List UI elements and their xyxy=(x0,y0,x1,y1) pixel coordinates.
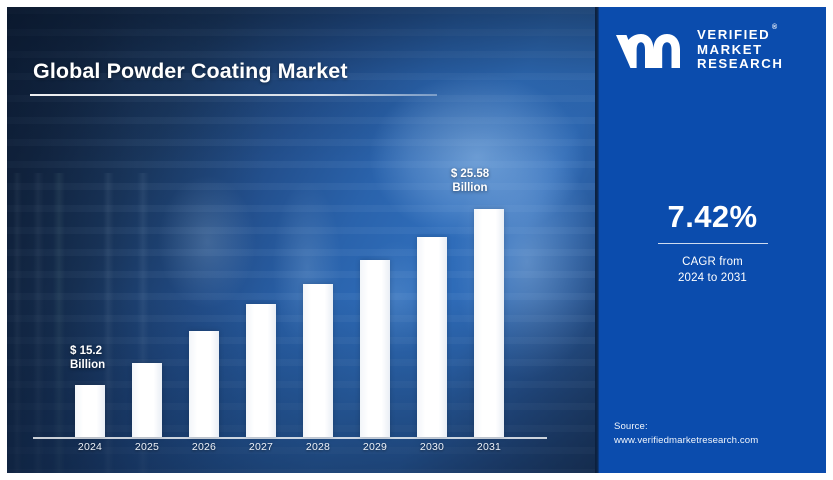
bar-2028 xyxy=(303,284,333,437)
brand-sidebar: VERIFIED MARKET RESEARCH ® 7.42% CAGR fr… xyxy=(599,7,826,473)
infographic-card: Global Powder Coating Market 20242025202… xyxy=(7,7,826,473)
cagr-value: 7.42% xyxy=(599,200,826,234)
chart-panel: Global Powder Coating Market 20242025202… xyxy=(7,7,595,473)
x-axis-tick-label-2025: 2025 xyxy=(119,441,175,453)
bar-2027 xyxy=(246,304,276,437)
source-attribution: Source: www.verifiedmarketresearch.com xyxy=(614,420,758,447)
cagr-highlight: 7.42% CAGR from 2024 to 2031 xyxy=(599,200,826,286)
x-axis-tick-label-2029: 2029 xyxy=(347,441,403,453)
cagr-caption: CAGR from 2024 to 2031 xyxy=(599,254,826,286)
vmr-monogram-icon xyxy=(614,30,688,70)
cagr-caption-line-2: 2024 to 2031 xyxy=(599,270,826,286)
first-year-value-unit: Billion xyxy=(62,358,146,372)
source-label: Source: xyxy=(614,420,758,434)
logo-line-research: RESEARCH xyxy=(697,57,783,72)
registered-trademark-icon: ® xyxy=(772,24,777,31)
cagr-caption-line-1: CAGR from xyxy=(599,254,826,270)
x-axis-tick-label-2026: 2026 xyxy=(176,441,232,453)
x-axis-tick-label-2030: 2030 xyxy=(404,441,460,453)
x-axis-tick-label-2028: 2028 xyxy=(290,441,346,453)
bar-2029 xyxy=(360,260,390,437)
bar-2031 xyxy=(474,209,504,437)
first-year-value-callout: $ 15.2 Billion xyxy=(62,344,146,372)
logo-line-market: MARKET xyxy=(697,43,783,58)
last-year-value-unit: Billion xyxy=(422,181,518,195)
bar-2030 xyxy=(417,237,447,437)
x-axis-tick-label-2031: 2031 xyxy=(461,441,517,453)
bar-chart-plot: 20242025202620272028202920302031 xyxy=(7,7,595,473)
first-year-value-amount: $ 15.2 xyxy=(62,344,146,358)
last-year-value-amount: $ 25.58 xyxy=(422,167,518,181)
logo-line-verified: VERIFIED xyxy=(697,28,783,43)
source-url[interactable]: www.verifiedmarketresearch.com xyxy=(614,434,758,448)
bar-2025 xyxy=(132,363,162,437)
x-axis-tick-label-2027: 2027 xyxy=(233,441,289,453)
last-year-value-callout: $ 25.58 Billion xyxy=(422,167,518,195)
bar-2026 xyxy=(189,331,219,437)
bar-2024 xyxy=(75,385,105,437)
cagr-divider xyxy=(658,243,768,244)
x-axis-tick-label-2024: 2024 xyxy=(62,441,118,453)
verified-market-research-logo[interactable]: VERIFIED MARKET RESEARCH ® xyxy=(614,28,783,72)
x-axis-line xyxy=(33,437,547,439)
logo-wordmark: VERIFIED MARKET RESEARCH ® xyxy=(697,28,783,72)
